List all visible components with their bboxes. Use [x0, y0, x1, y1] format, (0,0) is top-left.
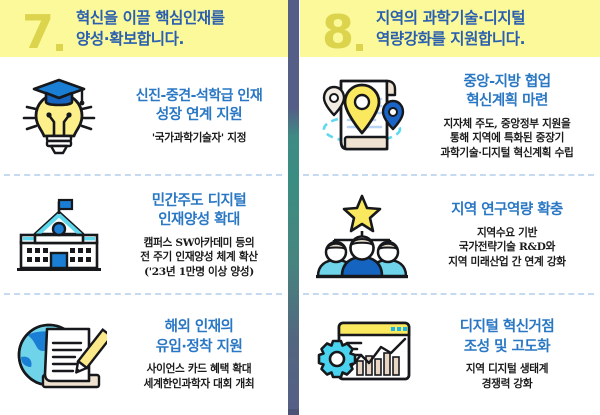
- section-number-7-wrap: 7: [22, 3, 72, 55]
- card-title-line-2: 성장 연계 지원: [118, 106, 280, 126]
- globe-document-pencil-icon: [0, 295, 118, 415]
- card-title-line-1: 해외 인재의: [118, 318, 280, 338]
- card-central-local-collab-text: 중앙-지방 협업 혁신계획 마련 지자체 주도, 중앙정부 지원을 통해 지역에…: [424, 73, 600, 161]
- team-star-org-icon: [299, 176, 424, 295]
- section-7-cards: 신진-중견-석학급 인재 성장 연계 지원 '국가과학기술자' 지정: [0, 57, 288, 415]
- card-sub-line-3: 과학기술·디지털 혁신계획 수립: [424, 146, 590, 161]
- card-digital-talent: 민간주도 디지털 인재양성 확대 캠퍼스 SW아카데미 등의 전 주기 인재양성…: [0, 176, 288, 295]
- section-number-8: 8: [322, 11, 353, 55]
- card-digital-hub: 디지털 혁신거점 조성 및 고도화 지역 디지털 생태계 경쟁력 강화: [299, 295, 600, 415]
- card-overseas-talent-text: 해외 인재의 유입·정착 지원 사이언스 카드 혜택 확대 세계한인과학자 대회…: [118, 318, 288, 391]
- card-regional-research: 지역 연구역량 확충 지역수요 기반 국가전략기술 R&D와 지역 미래산업 간…: [299, 176, 600, 295]
- section-number-7-dot: [56, 44, 63, 51]
- card-sub-line-1: 지자체 주도, 중앙정부 지원을: [424, 117, 590, 132]
- card-talent-growth-text: 신진-중견-석학급 인재 성장 연계 지원 '국가과학기술자' 지정: [118, 87, 288, 145]
- card-title-line-1: 민간주도 디지털: [118, 192, 280, 212]
- school-building-icon: [0, 176, 118, 295]
- card-title-line-1: 신진-중견-석학급 인재: [118, 87, 280, 106]
- section-heading-8: 지역의 과학기술·디지털 역량강화를 지원합니다.: [376, 8, 525, 48]
- card-overseas-talent: 해외 인재의 유입·정착 지원 사이언스 카드 혜택 확대 세계한인과학자 대회…: [0, 295, 288, 415]
- card-subtext: 사이언스 카드 혜택 확대 세계한인과학자 대회 개최: [118, 362, 280, 391]
- section-heading-8-line-1: 지역의 과학기술·디지털: [376, 8, 525, 28]
- scroll-map-pins-icon: [299, 57, 424, 176]
- section-number-8-wrap: 8: [322, 3, 372, 55]
- gear-chart-dashboard-icon: [299, 295, 424, 415]
- section-number-7: 7: [22, 11, 53, 55]
- card-title-line-1: 디지털 혁신거점: [424, 318, 590, 338]
- card-digital-hub-text: 디지털 혁신거점 조성 및 고도화 지역 디지털 생태계 경쟁력 강화: [424, 318, 600, 391]
- card-subtext: 캠퍼스 SW아카데미 등의 전 주기 인재양성 체계 확산 ('23년 1만명 …: [118, 236, 280, 280]
- card-title-line-1: 중앙-지방 협업: [424, 73, 590, 93]
- section-heading-7-line-2: 양성·확보합니다.: [76, 29, 225, 49]
- card-digital-talent-text: 민간주도 디지털 인재양성 확대 캠퍼스 SW아카데미 등의 전 주기 인재양성…: [118, 192, 288, 280]
- card-sub-line-1: '국가과학기술자' 지정: [118, 131, 280, 146]
- section-header-7: 7 혁신을 이끌 핵심인재를 양성·확보합니다.: [0, 0, 288, 57]
- section-number-8-dot: [356, 44, 363, 51]
- card-title-line-2: 인재양성 확대: [118, 211, 280, 231]
- section-heading-7-line-1: 혁신을 이끌 핵심인재를: [76, 8, 225, 28]
- card-title-line-1: 지역 연구역량 확충: [424, 201, 590, 221]
- card-sub-line-1: 지역수요 기반: [424, 226, 590, 241]
- section-heading-7: 혁신을 이끌 핵심인재를 양성·확보합니다.: [76, 8, 225, 48]
- card-sub-line-2: 국가전략기술 R&D와: [424, 240, 590, 255]
- section-header-8: 8 지역의 과학기술·디지털 역량강화를 지원합니다.: [300, 0, 600, 57]
- card-sub-line-1: 캠퍼스 SW아카데미 등의: [118, 236, 280, 251]
- section-heading-8-line-2: 역량강화를 지원합니다.: [376, 29, 525, 49]
- card-subtext: 지역수요 기반 국가전략기술 R&D와 지역 미래산업 간 연계 강화: [424, 226, 590, 270]
- lightbulb-graduation-cap-icon: [0, 57, 118, 176]
- card-sub-line-3: 지역 미래산업 간 연계 강화: [424, 255, 590, 270]
- card-sub-line-1: 사이언스 카드 혜택 확대: [118, 362, 280, 377]
- card-sub-line-2: 통해 지역에 특화된 중장기: [424, 131, 590, 146]
- card-title-line-2: 유입·정착 지원: [118, 338, 280, 358]
- card-central-local-collab: 중앙-지방 협업 혁신계획 마련 지자체 주도, 중앙정부 지원을 통해 지역에…: [299, 57, 600, 176]
- card-sub-line-3: ('23년 1만명 이상 양성): [118, 265, 280, 280]
- card-subtext: '국가과학기술자' 지정: [118, 131, 280, 146]
- card-subtext: 지역 디지털 생태계 경쟁력 강화: [424, 362, 590, 391]
- card-regional-research-text: 지역 연구역량 확충 지역수요 기반 국가전략기술 R&D와 지역 미래산업 간…: [424, 201, 600, 269]
- card-title-line-2: 혁신계획 마련: [424, 92, 590, 112]
- card-subtext: 지자체 주도, 중앙정부 지원을 통해 지역에 특화된 중장기 과학기술·디지털…: [424, 117, 590, 161]
- card-sub-line-2: 세계한인과학자 대회 개최: [118, 377, 280, 392]
- section-8-cards: 중앙-지방 협업 혁신계획 마련 지자체 주도, 중앙정부 지원을 통해 지역에…: [299, 57, 600, 415]
- card-talent-growth: 신진-중견-석학급 인재 성장 연계 지원 '국가과학기술자' 지정: [0, 57, 288, 176]
- column-divider: [288, 0, 299, 415]
- card-sub-line-1: 지역 디지털 생태계: [424, 362, 590, 377]
- card-title-line-2: 조성 및 고도화: [424, 338, 590, 358]
- card-sub-line-2: 전 주기 인재양성 체계 확산: [118, 250, 280, 265]
- card-sub-line-2: 경쟁력 강화: [424, 377, 590, 392]
- infographic-poster: 7 혁신을 이끌 핵심인재를 양성·확보합니다. 8 지역의 과학기술·디지털 …: [0, 0, 600, 415]
